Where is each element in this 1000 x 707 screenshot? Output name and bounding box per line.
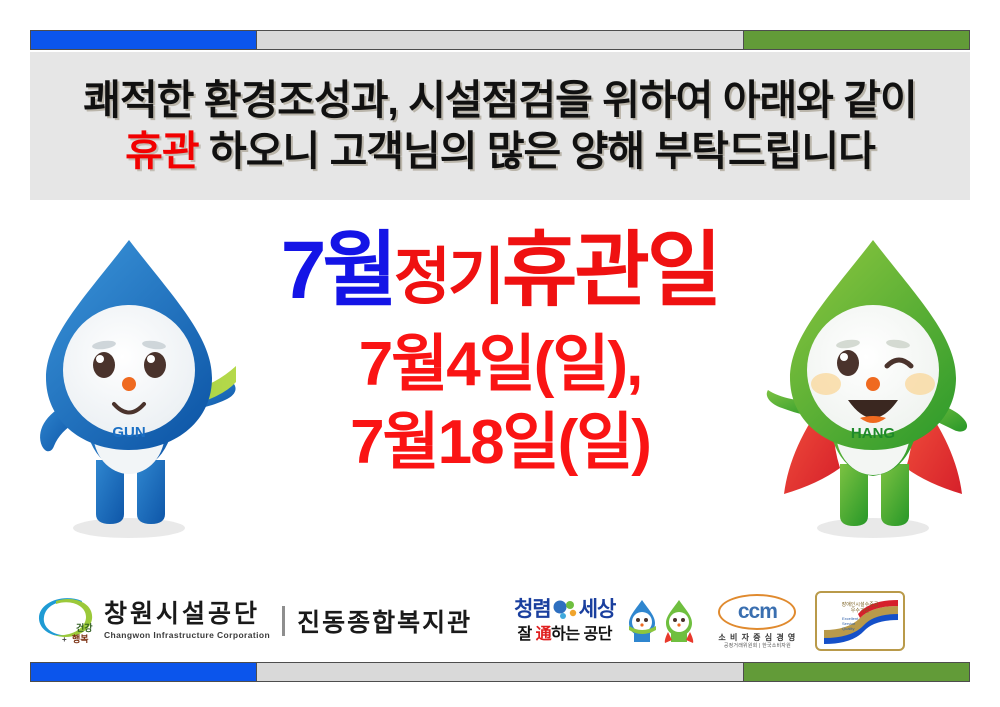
svg-text:행복: 행복 — [72, 633, 89, 644]
mini-mascot-pair — [625, 598, 696, 644]
logo-clean-world: 청렴 세상 잘 通하는 공단 — [514, 599, 615, 643]
notice-text-band: 쾌적한 환경조성과, 시설점검을 위하여 아래와 같이 휴관 하오니 고객님의 … — [30, 52, 970, 200]
slogan-pre: 잘 — [517, 626, 531, 643]
mascot-gun-name: GUN — [237, 232, 238, 233]
mascot-gun-label: GUN — [112, 424, 145, 441]
clean-world-slogan: 잘 通하는 공단 — [517, 627, 612, 643]
bar-segment-green-bottom — [744, 663, 969, 681]
cert-label-kr: 장애인시설수준급 — [842, 601, 879, 608]
branch-name: 진동종합복지관 — [297, 603, 472, 639]
slogan-hanja: 通 — [536, 626, 552, 643]
logo-changwon-infrastructure: 건강 행복 + 창원시설공단 Changwon Infrastructure C… — [36, 595, 270, 647]
ccm-oval-icon: ccm — [718, 594, 796, 630]
logo-divider — [282, 606, 285, 636]
headline-closed-day: 휴관일 — [502, 225, 719, 316]
svg-text:Quality: Quality — [842, 626, 854, 631]
changwon-swirl-icon: 건강 행복 + — [36, 595, 98, 647]
headline-block: 7월정기휴관일 7월4일(일), 7월18일(일) — [245, 230, 755, 481]
svg-text:건강: 건강 — [76, 622, 93, 633]
slogan-post: 하는 공단 — [551, 626, 612, 643]
mini-mascot-hang-icon — [662, 598, 696, 644]
clean-world-text-2: 세상 — [579, 599, 616, 620]
headline-row: 7월정기휴관일 — [245, 230, 755, 312]
closure-date-2: 7월18일(일) — [245, 404, 755, 482]
bottom-color-bar — [30, 662, 970, 682]
bar-segment-gray-bottom — [256, 663, 744, 681]
mascot-gun: GUN GUN — [22, 232, 237, 544]
logo-service-quality-certification: 장애인시설수준급 우수기관 Excellent Service Quality — [814, 590, 906, 652]
svg-text:+: + — [62, 635, 67, 644]
notice-line-2-rest: 하오니 고객님의 많은 양해 부탁드립니다 — [209, 128, 875, 174]
clean-world-text-1: 청렴 — [514, 599, 551, 620]
closure-notice-poster: 쾌적한 환경조성과, 시설점검을 위하여 아래와 같이 휴관 하오니 고객님의 … — [0, 0, 1000, 707]
bar-segment-blue — [31, 31, 256, 49]
notice-keyword-closed: 휴관 — [125, 128, 198, 174]
mascot-hang-label: HANG — [851, 425, 895, 442]
bar-segment-gray — [256, 31, 744, 49]
notice-line-2: 휴관 하오니 고객님의 많은 양해 부탁드립니다 — [125, 128, 875, 175]
clean-world-wordmark: 청렴 세상 — [514, 599, 615, 620]
cert-label-kr2: 우수기관 — [851, 607, 870, 614]
notice-line-1: 쾌적한 환경조성과, 시설점검을 위하여 아래와 같이 — [83, 77, 916, 124]
ccm-label-kr: 소 비 자 중 심 경 영 — [718, 634, 796, 642]
top-color-bar — [30, 30, 970, 50]
headline-month: 7월 — [281, 225, 394, 316]
corporation-name-kr: 창원시설공단 — [104, 602, 270, 627]
mascot-hang-name: HANG — [984, 232, 985, 233]
closure-date-1: 7월4일(일), — [245, 326, 755, 404]
clean-world-dots-icon — [553, 600, 577, 620]
mini-mascot-gun-icon — [625, 598, 659, 644]
bar-segment-green — [744, 31, 969, 49]
mascot-hang: HANG HANG — [762, 232, 984, 544]
bar-segment-blue-bottom — [31, 663, 256, 681]
footer-logo-row: 건강 행복 + 창원시설공단 Changwon Infrastructure C… — [30, 588, 970, 654]
headline-regular: 정기 — [394, 243, 502, 312]
logo-ccm: ccm 소 비 자 중 심 경 영 공정거래위원회 | 한국소비자원 — [718, 594, 796, 649]
ccm-sublabel: 공정거래위원회 | 한국소비자원 — [724, 644, 791, 649]
corporation-name-en: Changwon Infrastructure Corporation — [104, 631, 270, 640]
changwon-text-lockup: 창원시설공단 Changwon Infrastructure Corporati… — [104, 602, 270, 640]
ccm-wordmark: ccm — [738, 601, 777, 622]
